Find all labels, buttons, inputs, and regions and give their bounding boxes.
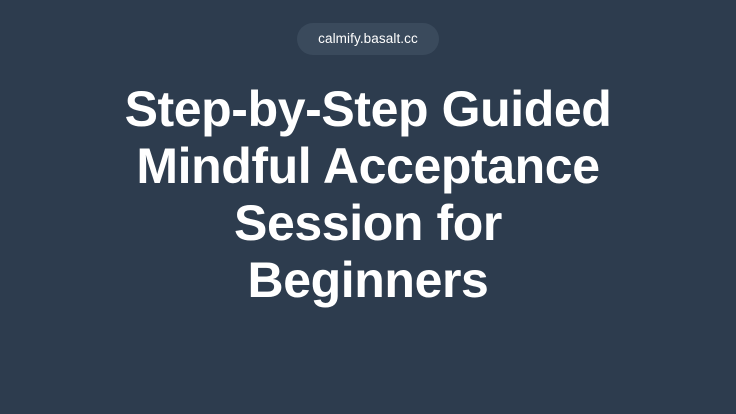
page-title-line-3: Session for [48, 195, 688, 252]
site-domain-badge: calmify.basalt.cc [297, 23, 439, 55]
og-card-canvas: calmify.basalt.cc Step-by-Step Guided Mi… [0, 0, 736, 414]
page-title-line-4: Beginners [48, 252, 688, 309]
page-title: Step-by-Step Guided Mindful Acceptance S… [48, 81, 688, 309]
page-title-line-1: Step-by-Step Guided [48, 81, 688, 138]
page-title-line-2: Mindful Acceptance [48, 138, 688, 195]
site-domain-label: calmify.basalt.cc [318, 32, 418, 46]
